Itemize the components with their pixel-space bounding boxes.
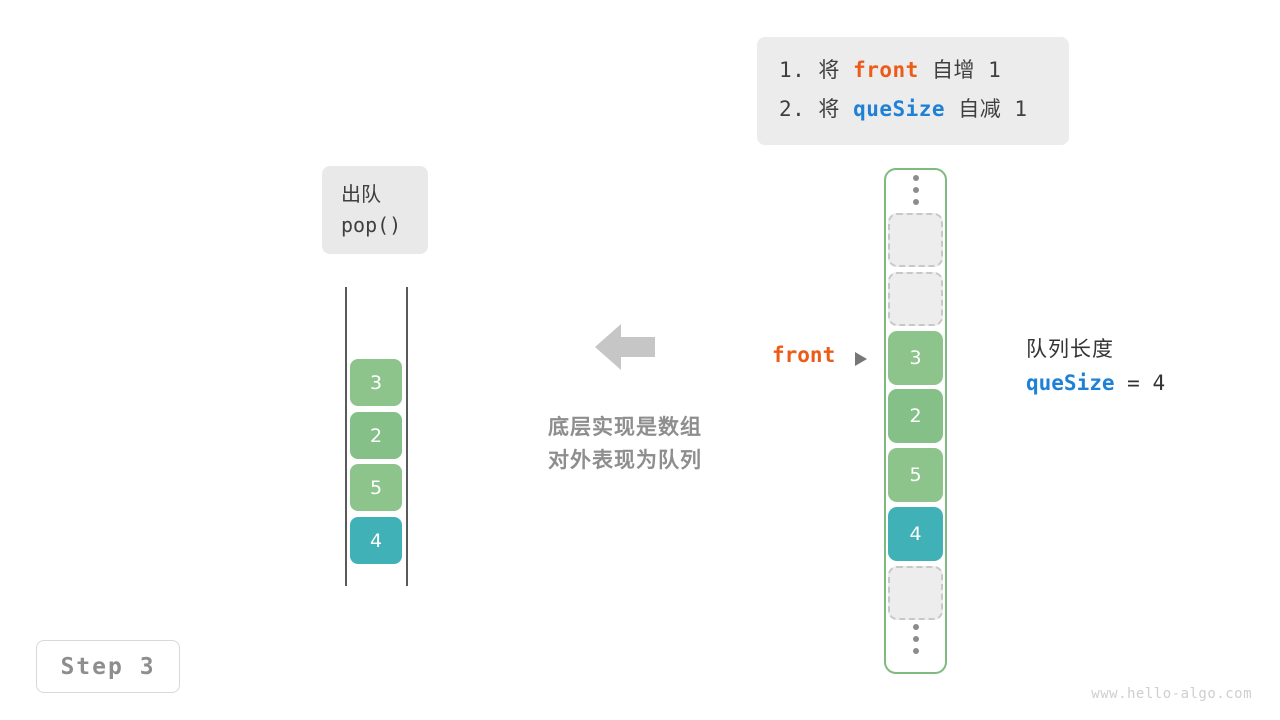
caption-block: 底层实现是数组 对外表现为队列 (529, 411, 721, 477)
instruction-2-token: queSize (853, 97, 945, 121)
ellipsis-dot (913, 624, 919, 630)
instruction-1-token: front (853, 58, 919, 82)
ellipsis-dot (913, 648, 919, 654)
array-cell: 4 (888, 507, 943, 561)
queue-cell: 2 (350, 412, 402, 459)
queue-size-title: 队列长度 (1026, 333, 1165, 365)
ellipsis-dot (913, 636, 919, 642)
front-pointer-arrow-icon (855, 352, 867, 366)
step-badge: Step 3 (36, 640, 180, 693)
diagram-canvas: 1. 将 front 自增 1 2. 将 queSize 自减 1 出队 pop… (0, 0, 1280, 720)
instruction-2-suffix: 自减 1 (945, 97, 1027, 121)
queue-cell: 4 (350, 517, 402, 564)
queue-rail-right (406, 287, 408, 586)
array-cell: 3 (888, 331, 943, 385)
caption-line-2: 对外表现为队列 (529, 444, 721, 477)
array-cell-empty (888, 272, 943, 326)
operation-label-box: 出队 pop() (322, 166, 428, 254)
queue-rail-left (345, 287, 347, 586)
array-cell: 2 (888, 389, 943, 443)
ellipsis-dot (913, 175, 919, 181)
queue-cell: 3 (350, 359, 402, 406)
array-cell-empty (888, 566, 943, 620)
array-cell: 5 (888, 448, 943, 502)
array-cell-empty (888, 213, 943, 267)
instruction-2-prefix: 2. 将 (779, 97, 853, 121)
instruction-line-2: 2. 将 queSize 自减 1 (779, 90, 1047, 129)
instruction-1-prefix: 1. 将 (779, 58, 853, 82)
instruction-1-suffix: 自增 1 (919, 58, 1001, 82)
array-ellipsis-icon (888, 175, 943, 205)
front-pointer-label: front (772, 343, 835, 367)
watermark: www.hello-algo.com (1091, 686, 1252, 702)
flow-arrow-left-icon (595, 322, 655, 372)
operation-label-line-2: pop() (341, 210, 428, 241)
queue-size-value: 4 (1152, 371, 1165, 395)
instruction-box: 1. 将 front 自增 1 2. 将 queSize 自减 1 (757, 37, 1069, 145)
queue-cell: 5 (350, 464, 402, 511)
queue-size-expression: queSize = 4 (1026, 365, 1165, 401)
queue-size-info: 队列长度 queSize = 4 (1026, 333, 1165, 401)
queue-size-var-name: queSize (1026, 371, 1115, 395)
array-ellipsis-icon (888, 624, 943, 654)
instruction-line-1: 1. 将 front 自增 1 (779, 51, 1047, 90)
ellipsis-dot (913, 187, 919, 193)
queue-size-equals: = (1115, 371, 1153, 395)
ellipsis-dot (913, 199, 919, 205)
caption-line-1: 底层实现是数组 (529, 411, 721, 444)
operation-label-line-1: 出队 (341, 179, 428, 210)
